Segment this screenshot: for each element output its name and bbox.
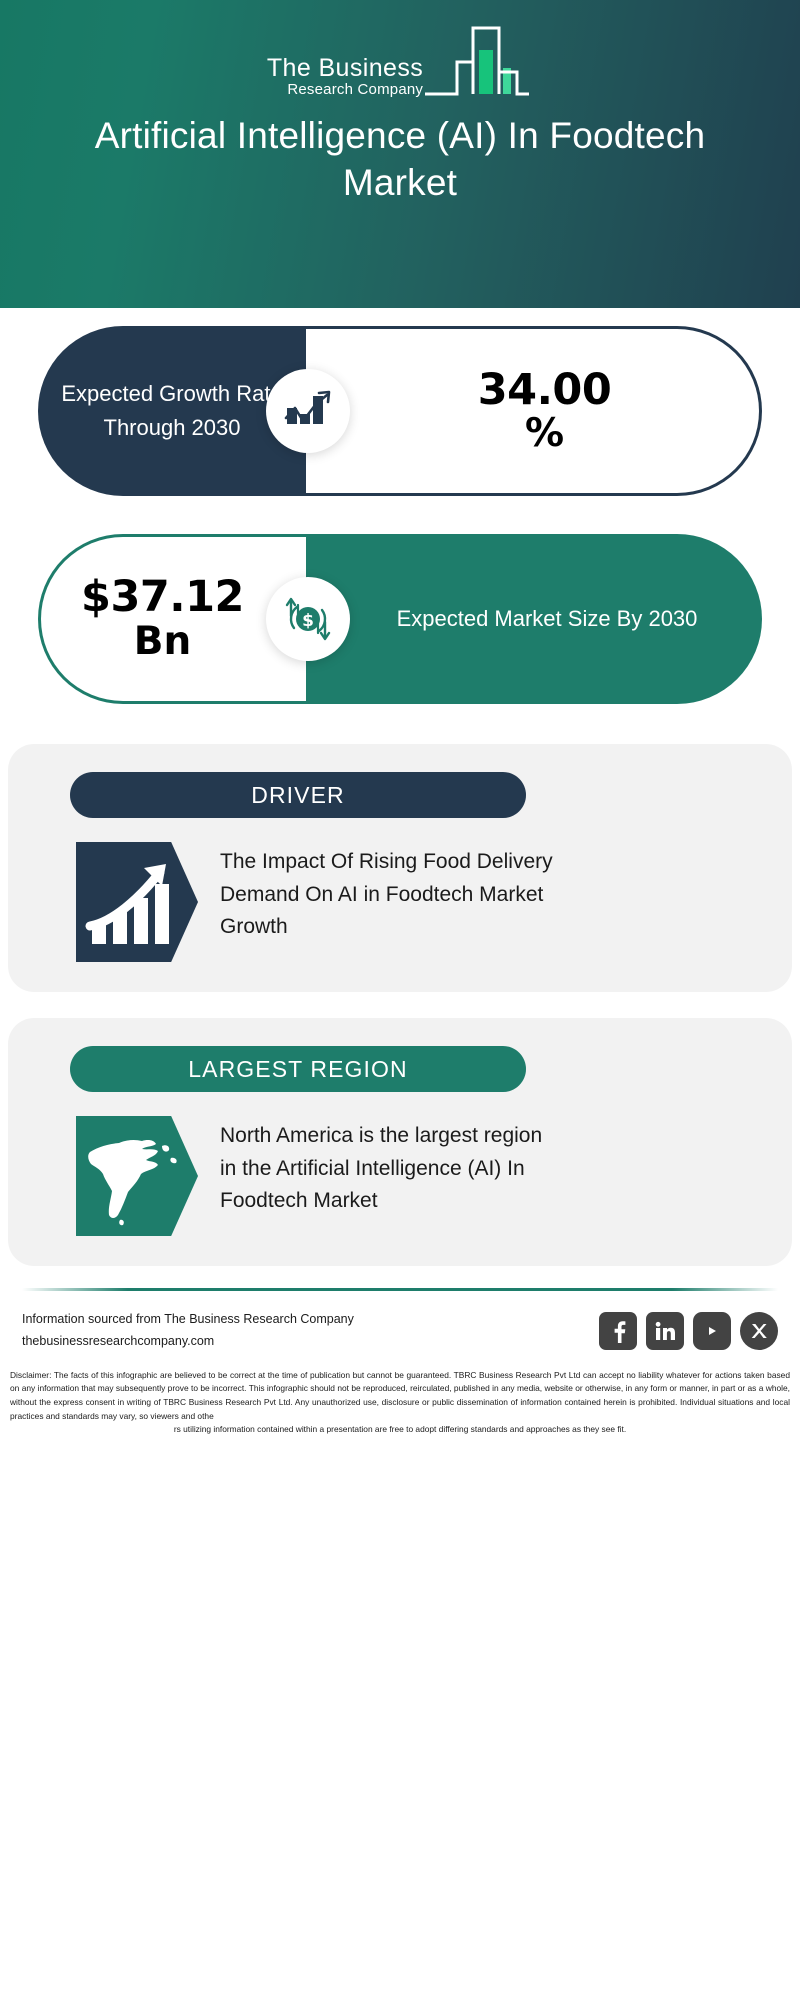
dollar-cycle-icon: $ [266, 577, 350, 661]
social-links [599, 1312, 778, 1350]
stat-card-market-size: $37.12 Bn Expected Market Size By 2030 $ [38, 534, 762, 704]
stat-cards-section: Expected Growth Rate Through 2030 34.00 … [0, 308, 800, 704]
x-twitter-icon[interactable] [740, 1312, 778, 1350]
stat-card-growth-rate: Expected Growth Rate Through 2030 34.00 … [38, 326, 762, 496]
svg-text:$: $ [302, 611, 314, 631]
disclaimer-paragraph-1: Disclaimer: The facts of this infographi… [10, 1369, 790, 1423]
largest-region-pill-label: LARGEST REGION [70, 1046, 526, 1092]
driver-pill-label: DRIVER [70, 772, 526, 818]
north-america-map-icon [76, 1116, 198, 1236]
stat-value-growth-rate: 34.00 [454, 367, 612, 413]
stat-unit-market-size: Bn [134, 621, 214, 664]
largest-region-panel: LARGEST REGION North America is the larg… [8, 1018, 792, 1266]
facebook-icon[interactable] [599, 1312, 637, 1350]
largest-region-text: North America is the largest region in t… [220, 1116, 560, 1236]
logo-line-1: The Business [267, 55, 423, 81]
largest-region-body: North America is the largest region in t… [8, 1116, 792, 1236]
youtube-icon[interactable] [693, 1312, 731, 1350]
stat-unit-growth-rate: % [501, 414, 564, 455]
disclaimer-paragraph-2: rs utilizing information contained withi… [10, 1423, 790, 1437]
linkedin-icon[interactable] [646, 1312, 684, 1350]
source-attribution: Information sourced from The Business Re… [22, 1309, 354, 1353]
stat-value-block-growth-rate: 34.00 % [306, 326, 762, 496]
stat-value-market-size: $37.12 [81, 574, 266, 621]
stat-label-market-size: Expected Market Size By 2030 [306, 534, 762, 704]
logo-line-2: Research Company [287, 81, 423, 100]
disclaimer-text: Disclaimer: The facts of this infographi… [0, 1353, 800, 1437]
driver-text: The Impact Of Rising Food Delivery Deman… [220, 842, 560, 962]
source-line-1: Information sourced from The Business Re… [22, 1309, 354, 1331]
page-title: Artificial Intelligence (AI) In Foodtech… [50, 112, 750, 207]
growth-chart-arrow-icon [266, 369, 350, 453]
driver-body: The Impact Of Rising Food Delivery Deman… [8, 842, 792, 962]
company-logo: The Business Research Company [0, 22, 800, 105]
infographic-header: The Business Research Company Artificial… [0, 0, 800, 308]
infographic-footer: Information sourced from The Business Re… [0, 1288, 800, 1437]
bar-chart-logo-icon [421, 22, 533, 103]
footer-row: Information sourced from The Business Re… [0, 1291, 800, 1353]
source-line-2[interactable]: thebusinessresearchcompany.com [22, 1331, 354, 1353]
rising-bar-chart-arrow-icon [76, 842, 198, 962]
driver-panel: DRIVER The Impact Of Rising Food Deliver… [8, 744, 792, 992]
